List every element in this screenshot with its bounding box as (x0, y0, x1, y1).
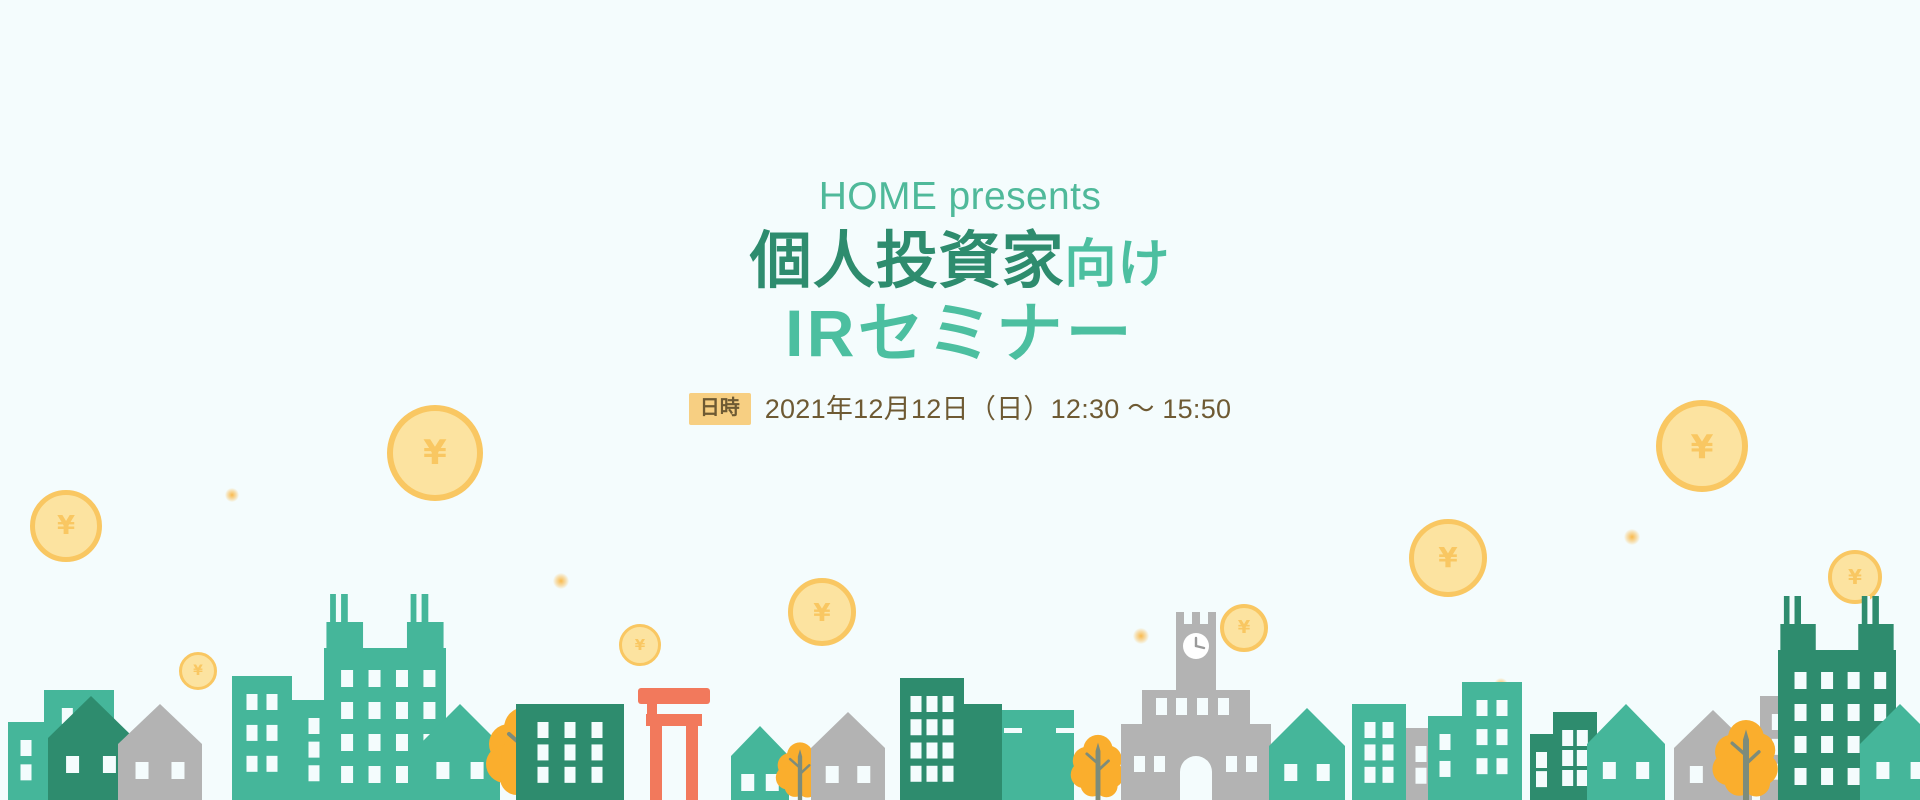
building-window (1577, 770, 1588, 786)
house-window (826, 766, 839, 783)
tower-right (407, 622, 444, 652)
seminar-banner: ¥¥¥¥¥¥¥¥¥ HOME presents 個人投資家向け IRセミナー 日… (0, 0, 1920, 800)
building-window (369, 734, 381, 751)
building-window (309, 765, 320, 781)
building-window (1440, 761, 1451, 777)
building-window (1848, 736, 1860, 753)
house-window (1284, 764, 1297, 781)
building-window (423, 670, 435, 687)
building-window (1365, 722, 1376, 738)
civic-window (1218, 698, 1229, 715)
building-window (943, 696, 954, 712)
building-window (267, 756, 278, 772)
building-window (943, 743, 954, 759)
building-window (369, 702, 381, 719)
building-dark-green-2b (964, 704, 1002, 800)
building-window (911, 696, 922, 712)
yen-icon: ¥ (423, 436, 447, 470)
building-mid-1a (232, 676, 292, 800)
title-line-1: 個人投資家向け (0, 229, 1920, 296)
building-window (927, 743, 938, 759)
building-window (1848, 672, 1860, 689)
building-window (396, 702, 408, 719)
building-window (1562, 730, 1573, 746)
building-window (1497, 729, 1508, 745)
tower-left (1780, 624, 1815, 654)
civic-window (1134, 756, 1145, 772)
torii-top-beam (638, 688, 710, 704)
house-window (66, 756, 79, 773)
house-window (171, 762, 184, 779)
house-window (136, 762, 149, 779)
building-window (1416, 746, 1427, 762)
tower-spire (1795, 596, 1801, 626)
tower-spire (422, 594, 429, 624)
civic-window (1246, 756, 1257, 772)
building-window (341, 670, 353, 687)
spire-gap (1790, 596, 1793, 624)
shop-awning-left (1004, 728, 1022, 733)
house-window (471, 762, 484, 779)
building-window (267, 694, 278, 710)
building-window (1848, 768, 1860, 785)
presents-line: HOME presents (0, 176, 1920, 219)
building-window (21, 740, 32, 756)
house-window (103, 756, 116, 773)
tower-spire (330, 594, 337, 624)
civic-window (1176, 698, 1187, 715)
building-window (247, 756, 258, 772)
building-window (565, 744, 576, 760)
building-window (1821, 704, 1833, 721)
tower-spire (411, 594, 418, 624)
title-line-2: IRセミナー (0, 298, 1920, 369)
house-window (1603, 762, 1616, 779)
building-window (1821, 672, 1833, 689)
building-window (1416, 768, 1427, 784)
tower-spire (341, 594, 348, 624)
civic-window (1156, 698, 1167, 715)
tower-spire (1872, 596, 1878, 626)
building-window (927, 696, 938, 712)
building-left-low (8, 722, 44, 800)
building-window (1536, 752, 1547, 768)
spire-gap (416, 594, 419, 622)
building-window (247, 725, 258, 741)
building-window (927, 766, 938, 782)
building-window (1383, 744, 1394, 760)
torii-post-cap-l (647, 704, 657, 716)
building-window (538, 722, 549, 738)
building-window (592, 767, 603, 783)
building-window (1536, 771, 1547, 787)
torii-pillar-left (650, 726, 662, 800)
building-window (309, 718, 320, 734)
torii-pillar-right (686, 726, 698, 800)
building-window (309, 742, 320, 758)
title-suffix-text: 向け (1064, 236, 1170, 294)
spire-gap (336, 594, 339, 622)
building-window (538, 767, 549, 783)
building-window (1795, 736, 1807, 753)
building-window (396, 766, 408, 783)
building-window (1795, 672, 1807, 689)
building-window (1562, 750, 1573, 766)
date-label-badge: 日時 (689, 393, 751, 425)
building-window (1383, 767, 1394, 783)
house-window (436, 762, 449, 779)
building-right-1 (1352, 704, 1406, 800)
house-window (1911, 762, 1920, 779)
house-green-4 (1269, 708, 1345, 800)
building-window (1365, 767, 1376, 783)
building-window (369, 670, 381, 687)
title-main-text: 個人投資家 (750, 227, 1065, 296)
tower-left (326, 622, 363, 652)
event-date-row: 日時 2021年12月12日（日）12:30 〜 15:50 (0, 393, 1920, 425)
civic-window (1197, 698, 1208, 715)
shop-awning-right (1056, 728, 1074, 733)
building-window (1440, 734, 1451, 750)
building-right-2a (1462, 682, 1522, 800)
building-window (1497, 758, 1508, 774)
tower-spire (1862, 596, 1868, 626)
building-window (1562, 770, 1573, 786)
house-window (1876, 762, 1889, 779)
headline-block: HOME presents 個人投資家向け IRセミナー 日時 2021年12月… (0, 176, 1920, 425)
building-window (565, 722, 576, 738)
tower-crenellation (1208, 612, 1216, 626)
building-window (1848, 704, 1860, 721)
building-window (1497, 700, 1508, 716)
civic-window (1226, 756, 1237, 772)
building-window (1383, 722, 1394, 738)
date-value-text: 2021年12月12日（日）12:30 〜 15:50 (765, 394, 1232, 425)
building-window (592, 744, 603, 760)
building-window (341, 766, 353, 783)
building-window (396, 734, 408, 751)
building-window (341, 734, 353, 751)
house-window (741, 774, 754, 791)
house-green-5 (1587, 704, 1665, 800)
building-window (911, 719, 922, 735)
tower-crenellation (1176, 612, 1184, 626)
tower-crenellation (1192, 612, 1200, 626)
yen-icon: ¥ (1691, 430, 1714, 463)
building-window (1821, 768, 1833, 785)
building-window (396, 670, 408, 687)
tower-right (1858, 624, 1893, 654)
building-window (267, 725, 278, 741)
house-window (1636, 762, 1649, 779)
building-window (1795, 704, 1807, 721)
building-window (1477, 729, 1488, 745)
building-window (927, 719, 938, 735)
building-window (1477, 700, 1488, 716)
building-window (1874, 672, 1886, 689)
building-window (1795, 768, 1807, 785)
house-gray-2 (811, 712, 885, 800)
building-window (1365, 744, 1376, 760)
civic-arch-door (1180, 756, 1212, 800)
building-window (943, 766, 954, 782)
building-window (247, 694, 258, 710)
spire-gap (1867, 596, 1870, 624)
house-window (1317, 764, 1330, 781)
building-window (1821, 736, 1833, 753)
building-window (1577, 730, 1588, 746)
building-window (911, 766, 922, 782)
shop-green (1002, 710, 1074, 800)
building-window (592, 722, 603, 738)
building-window (943, 719, 954, 735)
building-window (1874, 704, 1886, 721)
building-window (565, 767, 576, 783)
building-window (1477, 758, 1488, 774)
tree-orange-small-2 (1071, 735, 1124, 800)
townscape-illustration (0, 500, 1920, 800)
building-window (1577, 750, 1588, 766)
building-window (423, 702, 435, 719)
civic-window (1154, 756, 1165, 772)
building-window (911, 743, 922, 759)
building-window (341, 702, 353, 719)
building-right-2b (1428, 716, 1462, 800)
house-gray-1 (118, 704, 202, 800)
tower-spire (1784, 596, 1790, 626)
building-window (538, 744, 549, 760)
house-window (1690, 766, 1703, 783)
building-window (369, 766, 381, 783)
building-window (21, 764, 32, 780)
house-window (857, 766, 870, 783)
